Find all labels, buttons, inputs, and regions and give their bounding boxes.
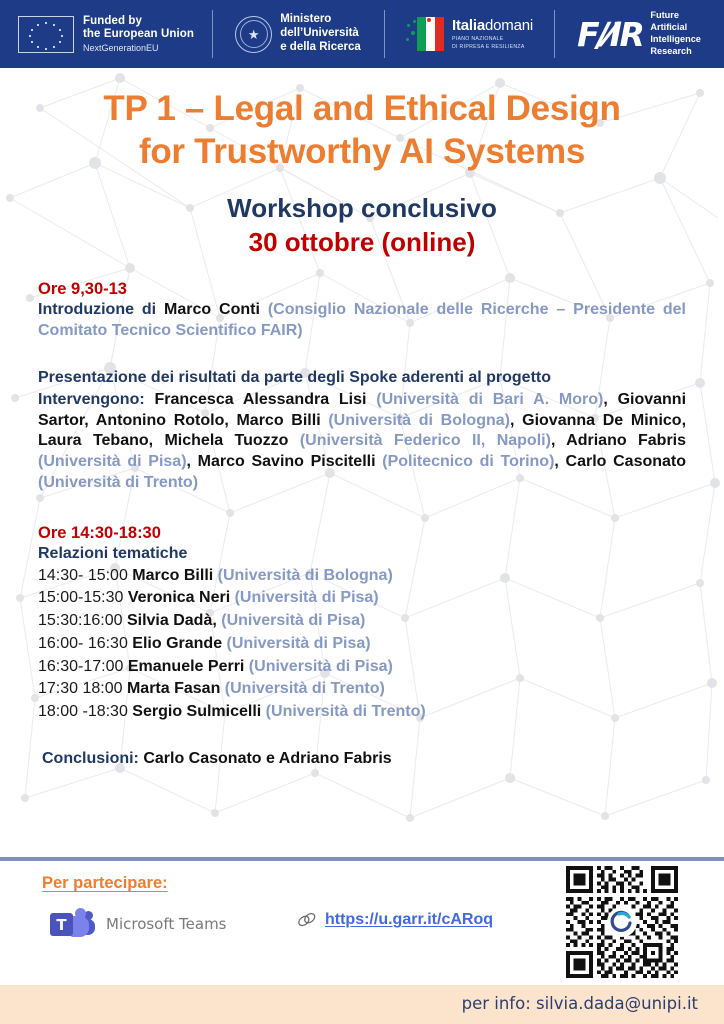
intro-di: di: [134, 301, 164, 318]
talk-time: 17:30 18:00: [38, 680, 127, 697]
spoke-block: Presentazione dei risultati da parte deg…: [38, 368, 686, 494]
talk-affiliation: (Università di Trento): [261, 703, 425, 720]
italiadomani-sub2: DI RIPRESA E RESILIENZA: [452, 44, 533, 51]
afternoon-time-heading: Ore 14:30-18:30: [38, 524, 686, 543]
title-line-1: TP 1 – Legal and Ethical Design: [0, 88, 724, 131]
participant-names: Francesca Alessandra Lisi: [145, 391, 377, 408]
talk-affiliation: (Università di Pisa): [230, 589, 379, 606]
teams-icon: T: [50, 907, 96, 941]
spoke-participants-paragraph: Intervengono: Francesca Alessandra Lisi …: [38, 390, 686, 494]
microsoft-teams-logo: T Microsoft Teams: [50, 907, 227, 941]
page-title: TP 1 – Legal and Ethical Design for Trus…: [0, 88, 724, 173]
talks-list: 14:30- 15:00 Marco Billi (Università di …: [38, 565, 686, 724]
fair-wordmark-icon: F/⁄IR: [577, 18, 642, 51]
meeting-link-group[interactable]: https://u.garr.it/cARoq: [296, 911, 493, 929]
talk-affiliation: (Università di Pisa): [244, 658, 393, 675]
mur-logo-line3: e della Ricerca: [280, 41, 361, 55]
participant-affiliation: (Università Federico II, Napoli): [300, 432, 551, 449]
talk-speaker: Emanuele Perri: [128, 658, 245, 675]
afternoon-section-label: Relazioni tematiche: [38, 545, 686, 563]
spoke-heading: Presentazione dei risultati da parte deg…: [38, 369, 551, 386]
conclusion-line: Conclusioni: Carlo Casonato e Adriano Fa…: [38, 750, 686, 768]
italiadomani-brand-rest: domani: [485, 17, 533, 34]
meeting-link[interactable]: https://u.garr.it/cARoq: [325, 911, 493, 929]
chain-link-icon: [296, 911, 318, 929]
talk-row: 18:00 -18:30 Sergio Sulmicelli (Universi…: [38, 701, 686, 724]
eu-logo-line3: NextGenerationEU: [83, 43, 194, 54]
participant-separator: ,: [554, 453, 565, 470]
fair-logo: F/⁄IR Future Artificial Intelligence Res…: [554, 6, 724, 62]
intervengono-label: Intervengono:: [38, 391, 145, 408]
title-line-2: for Trustworthy AI Systems: [0, 131, 724, 174]
mur-logo-line2: dell’Università: [280, 27, 361, 41]
fair-line2: Artificial: [650, 22, 701, 34]
mur-logo-line1: Ministero: [280, 13, 361, 27]
intro-speaker-name: Marco Conti: [164, 301, 260, 318]
qr-code[interactable]: [566, 866, 678, 978]
talk-time: 15:30:16:00: [38, 612, 127, 629]
republic-emblem-icon: ★: [235, 16, 272, 53]
talk-affiliation: (Università di Pisa): [217, 612, 366, 629]
poster-content: TP 1 – Legal and Ethical Design for Trus…: [0, 68, 724, 768]
fair-line1: Future: [650, 10, 701, 22]
talk-time: 15:00-15:30: [38, 589, 128, 606]
participant-names: Marco Savino Piscitelli: [198, 453, 383, 470]
participant-separator: ,: [510, 412, 522, 429]
eu-funding-logo: Funded by the European Union NextGenerat…: [0, 6, 212, 62]
participant-affiliation: (Università di Bari A. Moro): [376, 391, 603, 408]
contact-band: per info: silvia.dada@unipi.it: [0, 985, 724, 1024]
participant-names: Adriano Fabris: [566, 432, 686, 449]
morning-time-heading: Ore 9,30-13: [38, 280, 686, 299]
participant-affiliation: (Università di Pisa): [38, 453, 187, 470]
participate-heading: Per partecipare:: [42, 874, 168, 893]
eu-logo-line1: Funded by: [83, 15, 194, 29]
talk-affiliation: (Università di Trento): [220, 680, 384, 697]
participant-names: Carlo Casonato: [566, 453, 686, 470]
workshop-subtitle: Workshop conclusivo: [0, 193, 724, 224]
qr-logo-glyph: [610, 910, 634, 934]
talk-affiliation: (Università di Bologna): [213, 567, 393, 584]
sponsor-logo-bar: Funded by the European Union NextGenerat…: [0, 0, 724, 68]
talk-row: 15:00-15:30 Veronica Neri (Università di…: [38, 587, 686, 610]
talk-speaker: Veronica Neri: [128, 589, 230, 606]
talk-affiliation: (Università di Pisa): [222, 635, 371, 652]
italiadomani-logo: Italiadomani PIANO NAZIONALE DI RIPRESA …: [384, 6, 554, 62]
participant-affiliation: (Politecnico di Torino): [382, 453, 554, 470]
teams-label: Microsoft Teams: [106, 915, 227, 933]
participant-affiliation: (Università di Bologna): [328, 412, 510, 429]
talk-row: 16:00- 16:30 Elio Grande (Università di …: [38, 633, 686, 656]
ministero-logo: ★ Ministero dell’Università e della Rice…: [212, 6, 384, 62]
talk-time: 18:00 -18:30: [38, 703, 132, 720]
participant-affiliation: (Università di Trento): [38, 474, 198, 491]
contact-info: per info: silvia.dada@unipi.it: [462, 994, 698, 1013]
participant-separator: ,: [603, 391, 617, 408]
workshop-date: 30 ottobre (online): [0, 227, 724, 258]
talk-speaker: Marco Billi: [132, 567, 213, 584]
morning-intro-paragraph: Introduzione di Marco Conti (Consiglio N…: [38, 300, 686, 342]
talk-time: 14:30- 15:00: [38, 567, 132, 584]
fair-line4: Research: [650, 46, 701, 58]
talk-row: 15:30:16:00 Silvia Dadà, (Università di …: [38, 610, 686, 633]
eu-flag-icon: [18, 16, 74, 53]
talk-time: 16:00- 16:30: [38, 635, 132, 652]
talk-row: 17:30 18:00 Marta Fasan (Università di T…: [38, 678, 686, 701]
teams-letter: T: [50, 913, 73, 936]
conclusion-names: Carlo Casonato e Adriano Fabris: [139, 750, 392, 767]
talk-row: 14:30- 15:00 Marco Billi (Università di …: [38, 565, 686, 588]
talk-speaker: Elio Grande: [132, 635, 222, 652]
intro-label: Introduzione: [38, 301, 134, 318]
participant-separator: ,: [187, 453, 198, 470]
talk-speaker: Sergio Sulmicelli: [132, 703, 261, 720]
italian-flag-icon: [405, 15, 445, 53]
talk-speaker: Silvia Dadà,: [127, 612, 217, 629]
talk-row: 16:30-17:00 Emanuele Perri (Università d…: [38, 656, 686, 679]
fair-line3: Intelligence: [650, 34, 701, 46]
italiadomani-brand-bold: Italia: [452, 17, 485, 34]
qr-center-logo: [607, 907, 637, 937]
talk-time: 16:30-17:00: [38, 658, 128, 675]
italiadomani-sub1: PIANO NAZIONALE: [452, 36, 533, 43]
participant-separator: ,: [551, 432, 566, 449]
conclusion-label: Conclusioni:: [42, 750, 139, 767]
participation-footer: Per partecipare: T Microsoft Teams https…: [0, 861, 724, 985]
talk-speaker: Marta Fasan: [127, 680, 220, 697]
eu-logo-line2: the European Union: [83, 28, 194, 42]
